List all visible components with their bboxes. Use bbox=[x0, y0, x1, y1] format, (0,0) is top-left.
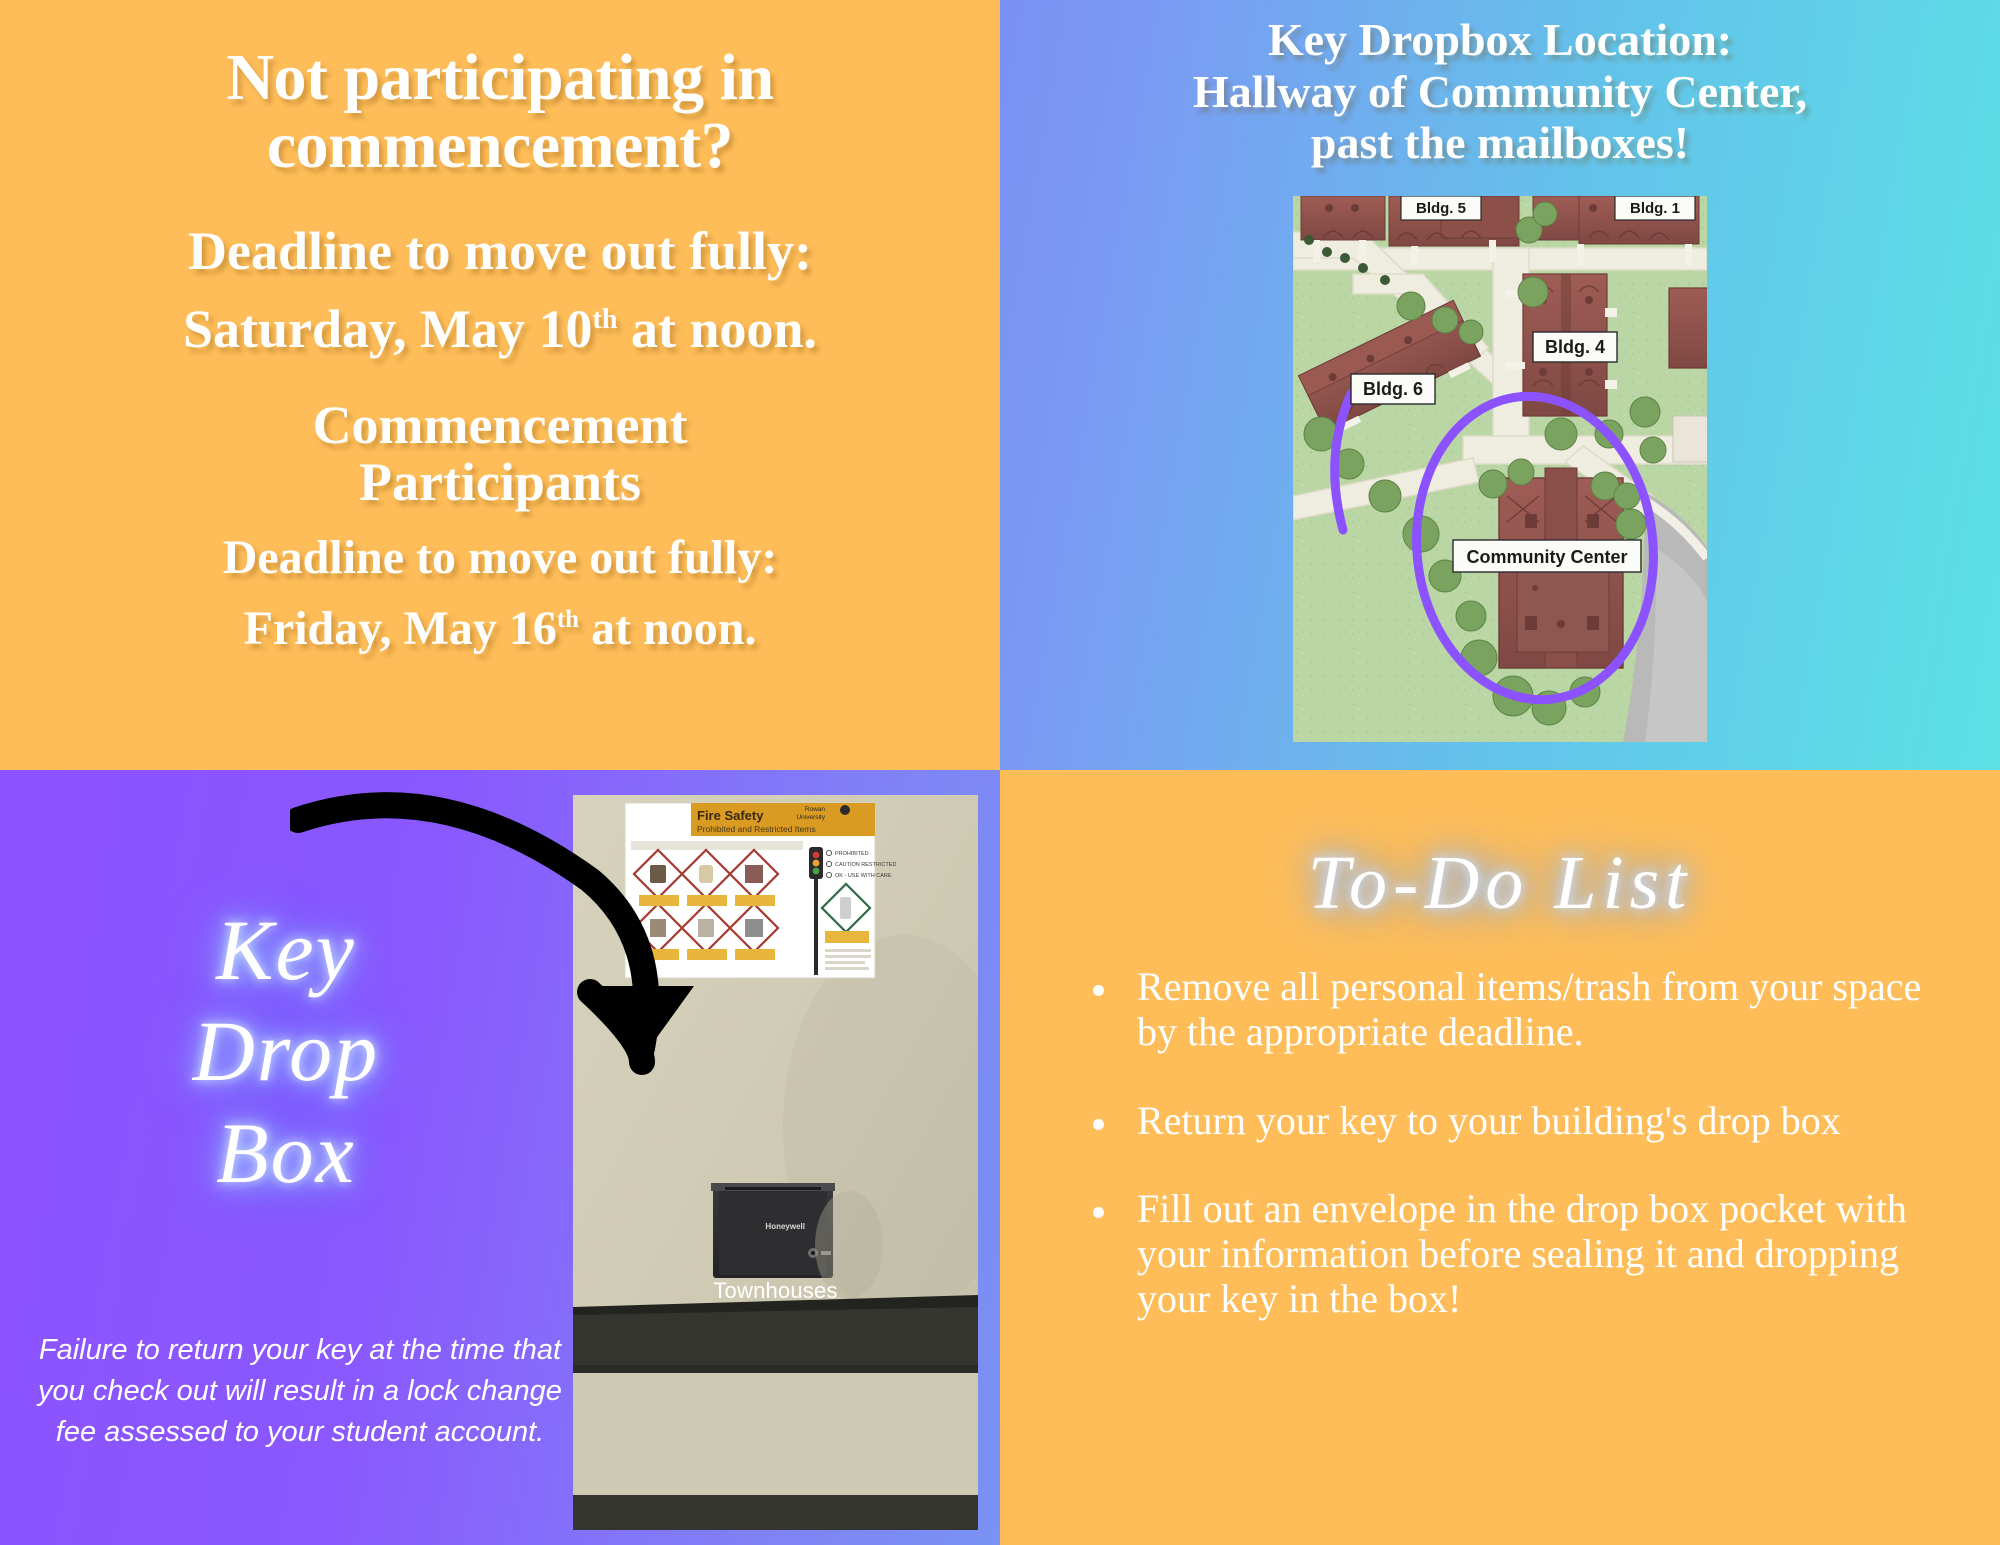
key-drop-box-title: Key Drop Box bbox=[96, 900, 476, 1204]
svg-text:OK - USE WITH CARE: OK - USE WITH CARE bbox=[835, 873, 892, 879]
to-do-items: Remove all personal items/trash from you… bbox=[1085, 965, 1965, 1366]
list-item: Return your key to your building's drop … bbox=[1085, 1099, 1965, 1144]
hallway-baseboard bbox=[573, 1295, 978, 1373]
tr-heading-line-3: past the mailboxes! bbox=[1000, 117, 2000, 169]
panel-move-out-deadlines: Not participating in commencement? Deadl… bbox=[0, 0, 1000, 770]
tl-deadline-label-1: Deadline to move out fully: bbox=[50, 224, 950, 280]
tl-deadline-label-2: Deadline to move out fully: bbox=[50, 533, 950, 582]
map-label-bldg1: Bldg. 1 bbox=[1630, 200, 1680, 217]
tl-date-2-prefix: Friday, May 16 bbox=[244, 602, 557, 655]
key-drop-box-title-line-2: Drop bbox=[96, 1001, 476, 1102]
map-label-community-center: Community Center bbox=[1466, 547, 1627, 567]
svg-text:Rowan: Rowan bbox=[805, 806, 826, 813]
campus-map-svg: Bldg. 5 Bldg. 1 Bldg. 4 Bldg. 6 Communit… bbox=[1293, 196, 1707, 742]
tl-date-2-suffix: at noon. bbox=[579, 602, 756, 655]
tl-date-1-ordinal: th bbox=[593, 304, 618, 335]
to-do-list-title: To-Do List bbox=[1080, 840, 1920, 927]
tr-heading: Key Dropbox Location: Hallway of Communi… bbox=[1000, 14, 2000, 169]
tl-date-2: Friday, May 16th at noon. bbox=[50, 604, 950, 653]
tl-date-1-prefix: Saturday, May 10 bbox=[183, 299, 593, 359]
bullet-icon bbox=[1093, 1119, 1104, 1130]
fire-safety-poster: Fire Safety Prohibited and Restricted It… bbox=[625, 803, 896, 978]
tr-heading-line-1: Key Dropbox Location: bbox=[1000, 14, 2000, 66]
svg-text:Prohibited and Restricted Item: Prohibited and Restricted Items bbox=[697, 824, 816, 834]
list-item: Remove all personal items/trash from you… bbox=[1085, 965, 1965, 1055]
list-item-text: Fill out an envelope in the drop box poc… bbox=[1137, 1186, 1907, 1321]
svg-text:Fire Safety: Fire Safety bbox=[697, 808, 764, 823]
tl-date-1-suffix: at noon. bbox=[617, 299, 817, 359]
bullet-icon bbox=[1093, 1207, 1104, 1218]
svg-text:Honeywell: Honeywell bbox=[765, 1222, 805, 1231]
svg-text:PROHIBITED: PROHIBITED bbox=[835, 851, 869, 857]
photo-caption: Townhouses bbox=[573, 1278, 978, 1304]
campus-map-image: Bldg. 5 Bldg. 1 Bldg. 4 Bldg. 6 Communit… bbox=[1293, 196, 1707, 742]
list-item-text: Return your key to your building's drop … bbox=[1137, 1098, 1841, 1143]
list-item: Fill out an envelope in the drop box poc… bbox=[1085, 1187, 1965, 1321]
key-drop-box-title-line-1: Key bbox=[96, 900, 476, 1001]
map-label-bldg4: Bldg. 4 bbox=[1545, 337, 1605, 357]
svg-text:CAUTION RESTRICTED: CAUTION RESTRICTED bbox=[835, 862, 896, 868]
drop-box-photo: Fire Safety Prohibited and Restricted It… bbox=[573, 795, 978, 1530]
tl-heading: Not participating in commencement? bbox=[170, 44, 830, 180]
key-drop-box-title-line-3: Box bbox=[96, 1103, 476, 1204]
lock-change-fee-note: Failure to return your key at the time t… bbox=[20, 1330, 580, 1454]
tl-date-1: Saturday, May 10th at noon. bbox=[50, 302, 950, 358]
list-item-text: Remove all personal items/trash from you… bbox=[1137, 964, 1921, 1054]
tl-subheading: Commencement Participants bbox=[170, 397, 830, 510]
drop-box-photo-svg: Fire Safety Prohibited and Restricted It… bbox=[573, 795, 978, 1530]
bullet-icon bbox=[1093, 985, 1104, 996]
map-label-bldg6: Bldg. 6 bbox=[1363, 379, 1423, 399]
map-label-bldg5: Bldg. 5 bbox=[1416, 200, 1466, 217]
svg-text:University: University bbox=[796, 814, 825, 821]
tr-heading-line-2: Hallway of Community Center, bbox=[1000, 66, 2000, 118]
move-out-flyer: Not participating in commencement? Deadl… bbox=[0, 0, 2000, 1545]
tl-date-2-ordinal: th bbox=[557, 606, 579, 633]
